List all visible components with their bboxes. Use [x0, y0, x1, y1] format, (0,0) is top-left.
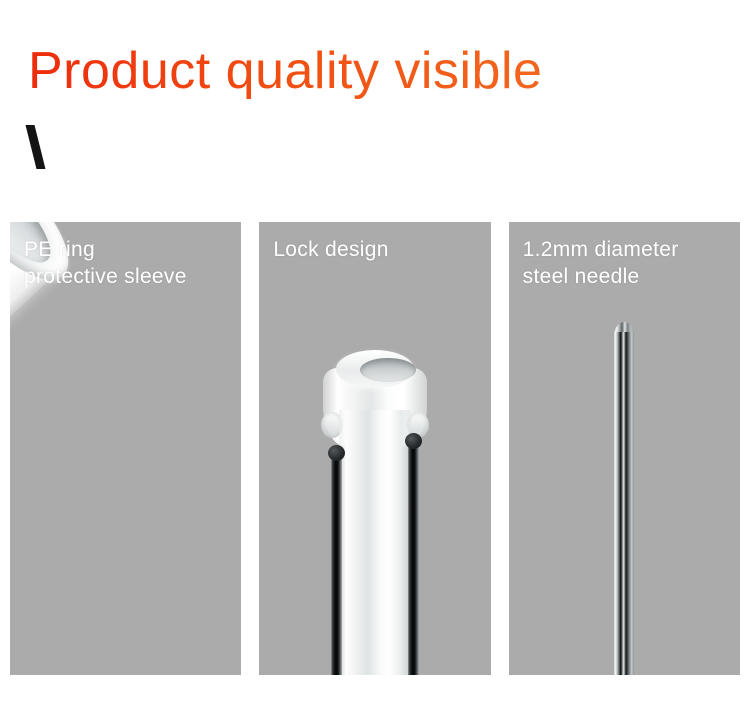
- panel-caption-pe-ring: PE ring protective sleeve: [24, 236, 187, 290]
- lock-tube-image: [323, 350, 427, 675]
- panel-caption-lock-design: Lock design: [273, 236, 388, 263]
- panel-caption-steel-needle: 1.2mm diameter steel needle: [523, 236, 679, 290]
- feature-panel-steel-needle[interactable]: 1.2mm diameter steel needle: [509, 222, 740, 675]
- tube-body: [339, 410, 411, 675]
- feature-panel-pe-ring[interactable]: PE ring protective sleeve: [10, 222, 241, 675]
- tube-needle: [408, 442, 419, 675]
- tube-needle: [331, 454, 342, 675]
- title-accent-rule: [26, 125, 46, 169]
- tube-open-end: [336, 350, 414, 388]
- needle-shaft: [614, 332, 634, 675]
- feature-panel-lock-design[interactable]: Lock design: [259, 222, 490, 675]
- tube-open-end-inner: [360, 358, 416, 382]
- page-title: Product quality visible: [28, 40, 542, 102]
- steel-needle-image: [614, 322, 634, 675]
- feature-panel-row: PE ring protective sleeve Lock design 1.…: [10, 222, 740, 675]
